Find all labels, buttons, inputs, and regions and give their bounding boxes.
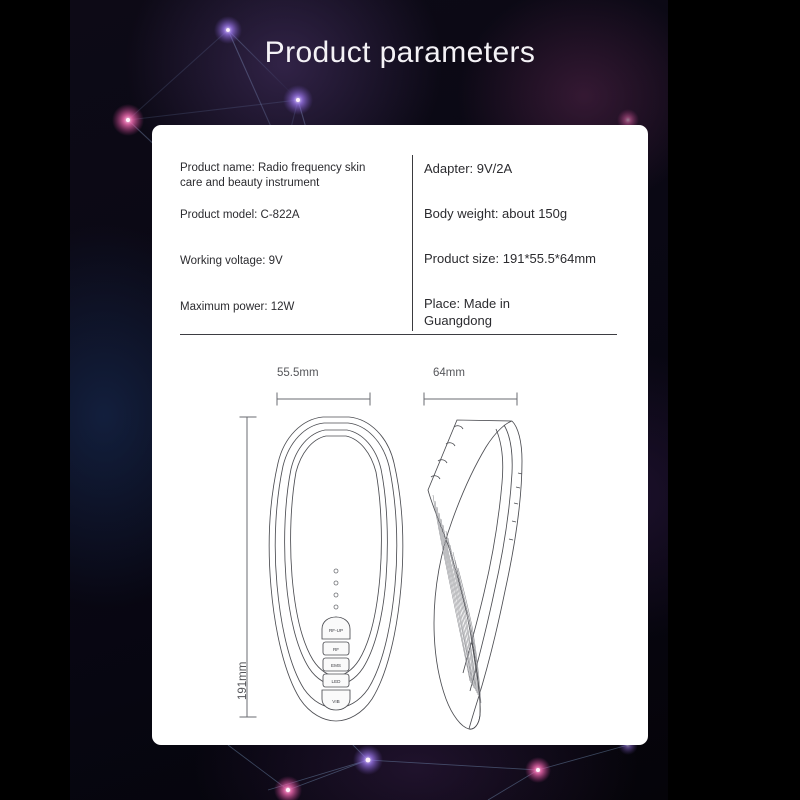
spec-product-size: Product size: 191*55.5*64mm <box>424 251 596 268</box>
product-dimension-diagram: 55.5mm 64mm 191mm <box>152 355 648 745</box>
spec-product-model: Product model: C-822A <box>180 208 300 223</box>
spec-product-name: Product name: Radio frequency skin care … <box>180 161 384 191</box>
spec-maximum-power: Maximum power: 12W <box>180 300 294 315</box>
side-width-dimension-label: 64mm <box>433 367 465 379</box>
front-width-dimension-label: 55.5mm <box>277 367 319 379</box>
product-parameters-card: Product name: Radio frequency skin care … <box>152 125 648 745</box>
spec-adapter: Adapter: 9V/2A <box>424 161 512 178</box>
button-label-led: LED <box>332 679 342 684</box>
dimension-drawing-svg: RF-UP RF EMS LED VIB <box>152 355 648 745</box>
column-divider <box>412 155 413 331</box>
letterbox-bar-right <box>668 0 800 800</box>
spec-place: Place: Made in Guangdong <box>424 296 542 330</box>
spec-working-voltage: Working voltage: 9V <box>180 254 283 269</box>
spec-body-weight: Body weight: about 150g <box>424 206 567 223</box>
side-view-drawing <box>428 420 522 729</box>
spec-table: Product name: Radio frequency skin care … <box>152 125 648 335</box>
button-label-rf-up: RF-UP <box>329 628 343 633</box>
control-button-stack: RF-UP RF EMS LED VIB <box>322 617 350 710</box>
page-title: Product parameters <box>0 36 800 70</box>
screenshot-root: Product parameters Product name: Radio f… <box>0 0 800 800</box>
front-height-dimension-label: 191mm <box>237 662 249 700</box>
section-divider <box>180 334 617 335</box>
button-label-ems: EMS <box>331 663 341 668</box>
letterbox-bar-left <box>0 0 70 800</box>
button-label-rf: RF <box>333 647 339 652</box>
button-label-vib: VIB <box>332 699 339 704</box>
